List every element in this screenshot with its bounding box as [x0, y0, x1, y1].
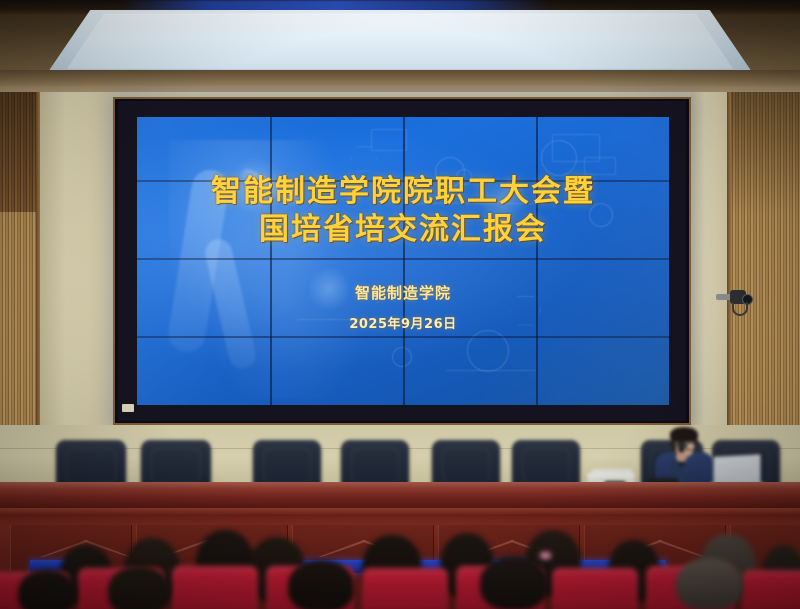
stage-chair-1[interactable] — [56, 440, 126, 488]
wall-pilaster-left — [40, 92, 113, 444]
stage-chair-4[interactable] — [341, 440, 409, 488]
speaker-glasses-right — [686, 443, 696, 450]
audience-front-head-5 — [676, 558, 742, 609]
audience-railing-top — [0, 508, 800, 516]
stage-chair-2[interactable] — [141, 440, 211, 488]
wood-slat-shadow-right — [730, 92, 800, 444]
slide-text-block: 智能制造学院院职工大会暨 国培省培交流汇报会 智能制造学院 2025年9月26日 — [137, 117, 669, 405]
speaker-hand — [676, 452, 687, 462]
wood-slat-shadow-left — [0, 92, 40, 444]
video-wall-display[interactable]: 智能制造学院院职工大会暨 国培省培交流汇报会 智能制造学院 2025年9月26日 — [137, 117, 669, 405]
hair-clip — [540, 552, 551, 559]
slide-title-line-1: 智能制造学院院职工大会暨 — [211, 173, 595, 211]
wall-edge-left — [36, 92, 40, 444]
security-camera — [716, 290, 750, 312]
audience-seat-9[interactable] — [742, 570, 800, 609]
conference-hall-photo: 智能制造学院院职工大会暨 国培省培交流汇报会 智能制造学院 2025年9月26日 — [0, 0, 800, 609]
audience-front-head-1 — [18, 570, 76, 609]
audience-seat-7[interactable] — [552, 568, 638, 609]
speaker-hair — [670, 427, 698, 442]
audience-seat-3[interactable] — [172, 566, 258, 609]
audience-front-head-2 — [108, 566, 170, 609]
stage-chair-3[interactable] — [253, 440, 321, 488]
stage-chair-6[interactable] — [512, 440, 580, 488]
ceiling-light-panel-inner — [60, 13, 740, 69]
slide-date: 2025年9月26日 — [349, 313, 456, 332]
audience-front-head-3 — [288, 560, 354, 609]
slide-title-line-2: 国培省培交流汇报会 — [259, 211, 547, 249]
microphone-capsule — [677, 441, 686, 449]
ceiling-soffit-shadow — [0, 70, 800, 86]
head-table-surface — [0, 482, 800, 489]
wall-pilaster-right — [691, 92, 730, 444]
stage-chair-5[interactable] — [432, 440, 500, 488]
audience-front-head-4 — [480, 556, 548, 609]
wall-edge-right — [727, 92, 731, 444]
screen-ir-sensor — [122, 404, 134, 412]
slide-organization: 智能制造学院 — [355, 282, 451, 303]
audience-seat-5[interactable] — [362, 568, 448, 609]
